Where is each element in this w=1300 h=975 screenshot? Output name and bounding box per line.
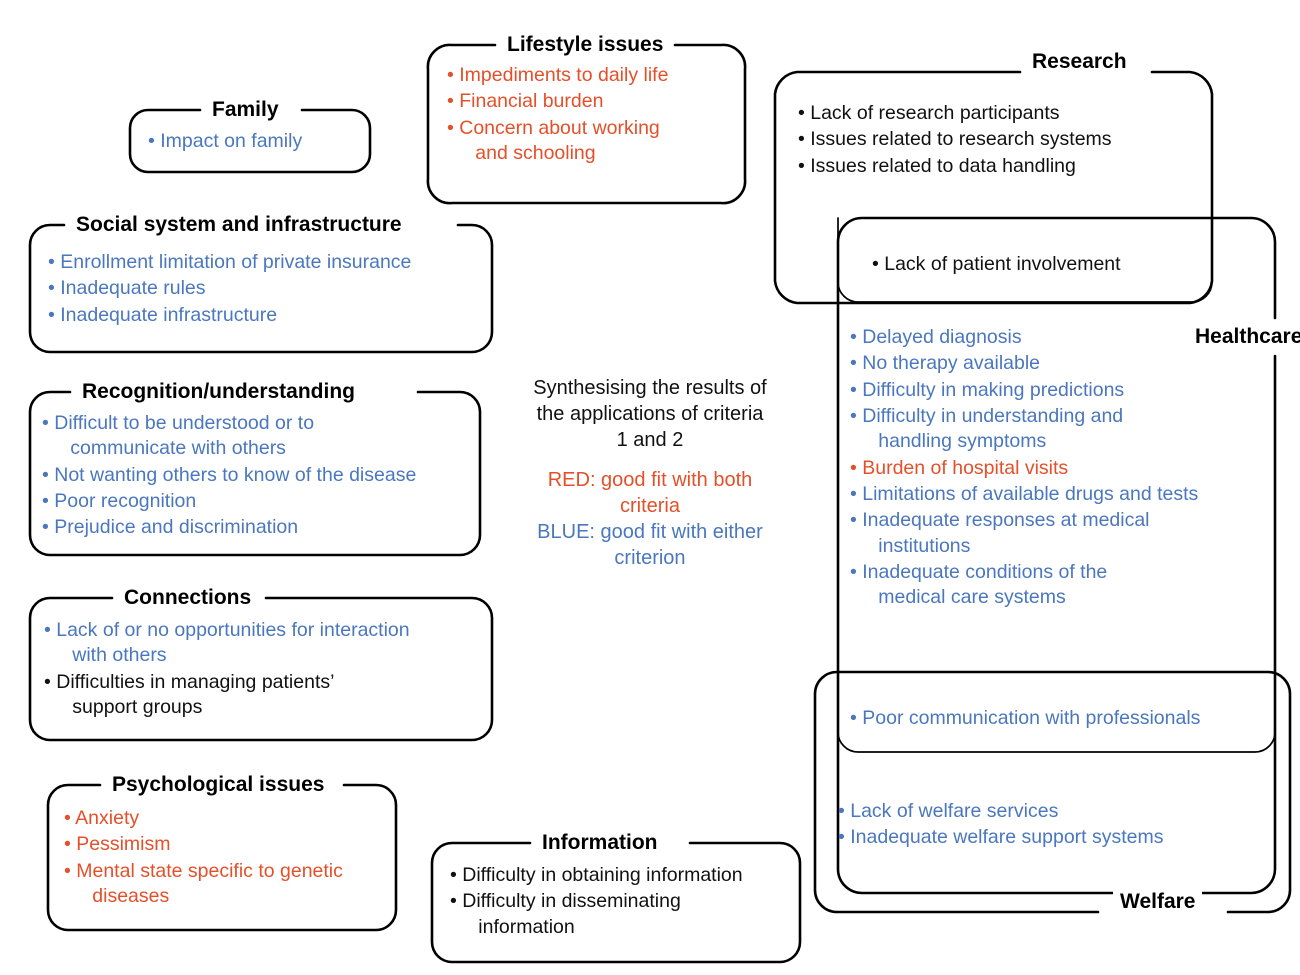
list-item: • Difficulty in making predictions [850, 378, 1260, 403]
list-item: • Issues related to data handling [798, 154, 1198, 179]
research-box-title: Research [1025, 51, 1134, 72]
list-item: • Poor recognition [42, 489, 482, 514]
recognition-box-items: • Difficult to be understood or to commu… [42, 411, 482, 542]
lifestyle-box-items: • Impediments to daily life • Financial … [447, 63, 737, 167]
legend-blue-line: BLUE: good fit with either [495, 519, 805, 545]
list-item: • Limitations of available drugs and tes… [850, 482, 1260, 507]
list-item: • Inadequate infrastructure [48, 303, 488, 328]
information-box-title: Information [535, 832, 665, 853]
lifestyle-box-title: Lifestyle issues [500, 34, 670, 55]
welfare-box-items: • Lack of welfare services • Inadequate … [838, 799, 1258, 852]
research-healthcare-overlap-items: • Lack of patient involvement [872, 252, 1202, 278]
recognition-box-title: Recognition/understanding [75, 381, 362, 402]
legend-heading-line: Synthesising the results of [495, 375, 805, 401]
list-item: • Not wanting others to know of the dise… [42, 463, 482, 488]
list-item: • Difficult to be understood or to commu… [42, 411, 482, 462]
diagram-canvas: Family • Impact on family Lifestyle issu… [0, 0, 1300, 975]
list-item: • Difficulty in obtaining information [450, 863, 795, 888]
list-item: • Lack of research participants [798, 101, 1198, 126]
list-item: • Enrollment limitation of private insur… [48, 250, 488, 275]
list-item: • Lack of or no opportunities for intera… [44, 618, 494, 669]
list-item: • No therapy available [850, 351, 1260, 376]
social-system-box-title: Social system and infrastructure [69, 214, 409, 235]
list-item: • Financial burden [447, 89, 737, 114]
information-box-items: • Difficulty in obtaining information • … [450, 863, 795, 941]
list-item: • Delayed diagnosis [850, 325, 1260, 350]
family-box-items: • Impact on family [148, 129, 363, 155]
healthcare-welfare-overlap-items: • Poor communication with professionals [850, 706, 1280, 732]
list-item: • Burden of hospital visits [850, 456, 1260, 481]
psychological-box-title: Psychological issues [105, 774, 331, 795]
list-item: • Poor communication with professionals [850, 706, 1280, 731]
legend-red-line: criteria [495, 493, 805, 519]
list-item: • Issues related to research systems [798, 127, 1198, 152]
legend-blue-line: criterion [495, 545, 805, 571]
list-item: • Inadequate welfare support systems [838, 825, 1258, 850]
legend-heading-line: 1 and 2 [495, 427, 805, 453]
legend-red-line: RED: good fit with both [495, 467, 805, 493]
list-item: • Concern about working and schooling [447, 116, 737, 167]
list-item: • Lack of patient involvement [872, 252, 1202, 277]
list-item: • Lack of welfare services [838, 799, 1258, 824]
list-item: • Mental state specific to genetic disea… [64, 859, 394, 910]
list-item: • Difficulty in understanding and handli… [850, 404, 1260, 455]
list-item: • Inadequate rules [48, 276, 488, 301]
psychological-box-items: • Anxiety • Pessimism • Mental state spe… [64, 806, 394, 910]
welfare-box-title: Welfare [1113, 891, 1202, 912]
legend-heading-line: the applications of criteria [495, 401, 805, 427]
research-box-items: • Lack of research participants • Issues… [798, 101, 1198, 180]
healthcare-box-items: • Delayed diagnosis • No therapy availab… [850, 325, 1260, 612]
list-item: • Anxiety [64, 806, 394, 831]
list-item: • Prejudice and discrimination [42, 515, 482, 540]
connections-box-title: Connections [117, 587, 258, 608]
list-item: • Pessimism [64, 832, 394, 857]
list-item: • Impediments to daily life [447, 63, 737, 88]
family-box-title: Family [205, 99, 286, 120]
connections-box-items: • Lack of or no opportunities for intera… [44, 618, 494, 721]
social-system-box-items: • Enrollment limitation of private insur… [48, 250, 488, 329]
list-item: • Impact on family [148, 129, 363, 154]
center-legend: Synthesising the results of the applicat… [495, 375, 805, 571]
legend-spacer [495, 453, 805, 467]
list-item: • Inadequate responses at medical instit… [850, 508, 1260, 559]
list-item: • Difficulties in managing patients’ sup… [44, 670, 494, 721]
list-item: • Inadequate conditions of the medical c… [850, 560, 1260, 611]
list-item: • Difficulty in disseminating informatio… [450, 889, 795, 940]
